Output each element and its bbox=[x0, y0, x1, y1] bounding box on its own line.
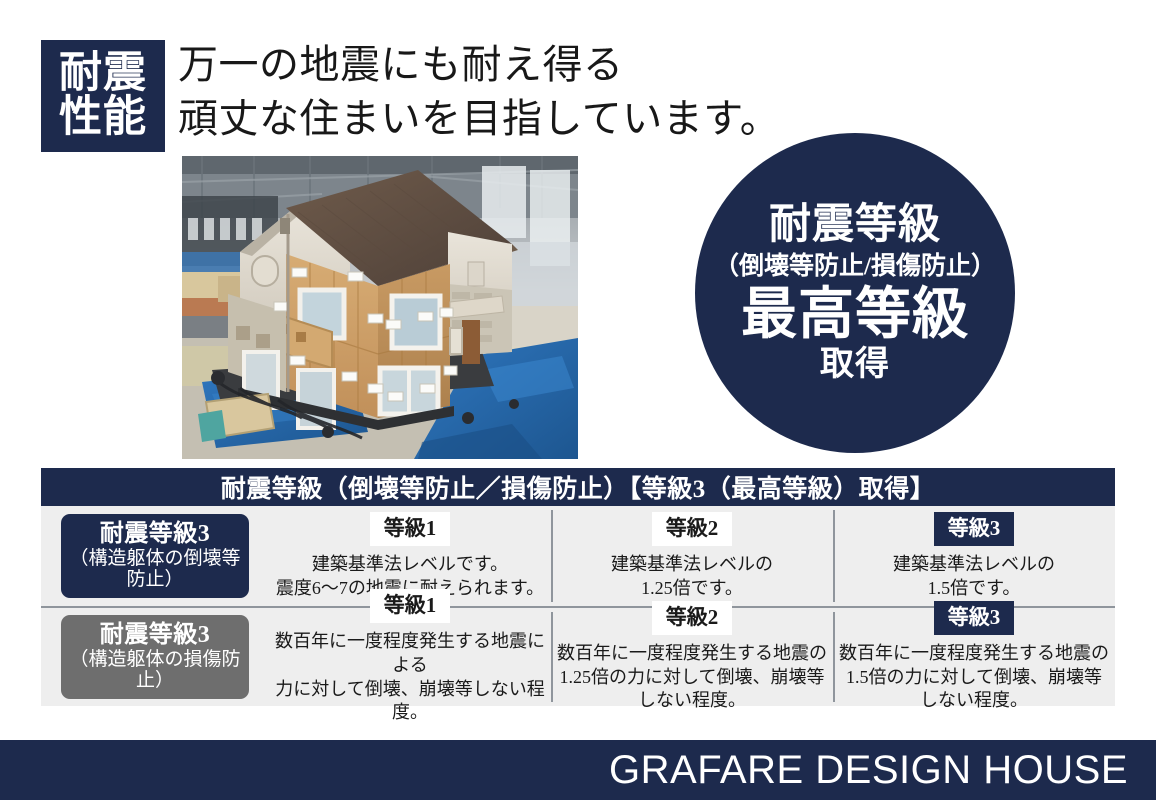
grade-description: 数百年に一度程度発生する地震の 1.25倍の力に対して倒壊、崩壊等しない程度。 bbox=[557, 642, 827, 713]
seal-line-4: 取得 bbox=[820, 346, 890, 383]
headline-line2: 頑丈な住まいを目指しています。 bbox=[178, 92, 878, 146]
table-row: 耐震等級3 （構造躯体の倒壊等防止） 等級1 建築基準法レベルです。 震度6〜7… bbox=[41, 506, 1115, 606]
grade-cell-2: 等級2 数百年に一度程度発生する地震の 1.25倍の力に対して倒壊、崩壊等しない… bbox=[551, 608, 833, 706]
headline: 万一の地震にも耐え得る 頑丈な住まいを目指しています。 bbox=[178, 38, 878, 147]
grade-chip: 等級2 bbox=[652, 601, 733, 635]
earthquake-resistance-page: 耐震 性能 万一の地震にも耐え得る 頑丈な住まいを目指しています。 bbox=[0, 0, 1156, 800]
row-label-cell: 耐震等級3 （構造躯体の損傷防止） bbox=[41, 608, 269, 706]
footer-bar: GRAFARE DESIGN HOUSE bbox=[0, 740, 1156, 800]
grade-chip: 等級1 bbox=[370, 512, 451, 546]
grade-cell-3: 等級3 数百年に一度程度発生する地震の 1.5倍の力に対して倒壊、崩壊等しない程… bbox=[833, 608, 1115, 706]
table-body: 耐震等級3 （構造躯体の倒壊等防止） 等級1 建築基準法レベルです。 震度6〜7… bbox=[41, 506, 1115, 706]
grade-cell-2: 等級2 建築基準法レベルの 1.25倍です。 bbox=[551, 506, 833, 606]
section-badge-line1: 耐震 bbox=[59, 52, 147, 96]
section-badge: 耐震 性能 bbox=[41, 40, 165, 152]
row-label-badge: 耐震等級3 （構造躯体の倒壊等防止） bbox=[61, 514, 249, 598]
table-row: 耐震等級3 （構造躯体の損傷防止） 等級1 数百年に一度程度発生する地震による … bbox=[41, 606, 1115, 706]
row-label-cell: 耐震等級3 （構造躯体の倒壊等防止） bbox=[41, 506, 269, 606]
seal-text-group: 耐震等級 （倒壊等防止/損傷防止） 最高等級 取得 bbox=[645, 133, 1065, 453]
row-label-badge: 耐震等級3 （構造躯体の損傷防止） bbox=[61, 615, 249, 699]
grade-cell-3: 等級3 建築基準法レベルの 1.5倍です。 bbox=[833, 506, 1115, 606]
grade-chip: 等級1 bbox=[370, 589, 451, 623]
row-label-sub: （構造躯体の倒壊等防止） bbox=[63, 548, 247, 591]
seal-line-3: 最高等級 bbox=[741, 285, 969, 345]
seal-line-1: 耐震等級 bbox=[769, 202, 941, 249]
grade-description: 数百年に一度程度発生する地震の 1.5倍の力に対して倒壊、崩壊等しない程度。 bbox=[839, 642, 1109, 713]
grade-chip-highlighted: 等級3 bbox=[934, 601, 1015, 635]
certification-seal: 耐震等級 （倒壊等防止/損傷防止） 最高等級 取得 bbox=[645, 133, 1065, 453]
grade-chip-highlighted: 等級3 bbox=[934, 512, 1015, 546]
grade-chip: 等級2 bbox=[652, 512, 733, 546]
row-label-sub: （構造躯体の損傷防止） bbox=[63, 649, 247, 692]
grade-description: 建築基準法レベルの 1.25倍です。 bbox=[611, 553, 773, 601]
shake-table-test-photo bbox=[182, 156, 578, 459]
seal-circle-shape bbox=[695, 133, 1015, 453]
photo-illustration bbox=[182, 156, 578, 459]
section-badge-line2: 性能 bbox=[59, 96, 147, 140]
grade-cell-1: 等級1 数百年に一度程度発生する地震による 力に対して倒壊、崩壊等しない程度。 bbox=[269, 608, 551, 706]
row-label-main: 耐震等級3 bbox=[63, 622, 247, 649]
grade-description: 建築基準法レベルの 1.5倍です。 bbox=[893, 553, 1055, 601]
grade-description: 数百年に一度程度発生する地震による 力に対して倒壊、崩壊等しない程度。 bbox=[275, 630, 545, 725]
brand-name: GRAFARE DESIGN HOUSE bbox=[609, 748, 1156, 793]
seal-line-2: （倒壊等防止/損傷防止） bbox=[714, 251, 996, 284]
table-title: 耐震等級（倒壊等防止／損傷防止）【等級3（最高等級）取得】 bbox=[41, 468, 1115, 506]
row-label-main: 耐震等級3 bbox=[63, 521, 247, 548]
seismic-grade-table: 耐震等級（倒壊等防止／損傷防止）【等級3（最高等級）取得】 耐震等級3 （構造躯… bbox=[41, 468, 1115, 706]
headline-line1: 万一の地震にも耐え得る bbox=[178, 38, 878, 92]
